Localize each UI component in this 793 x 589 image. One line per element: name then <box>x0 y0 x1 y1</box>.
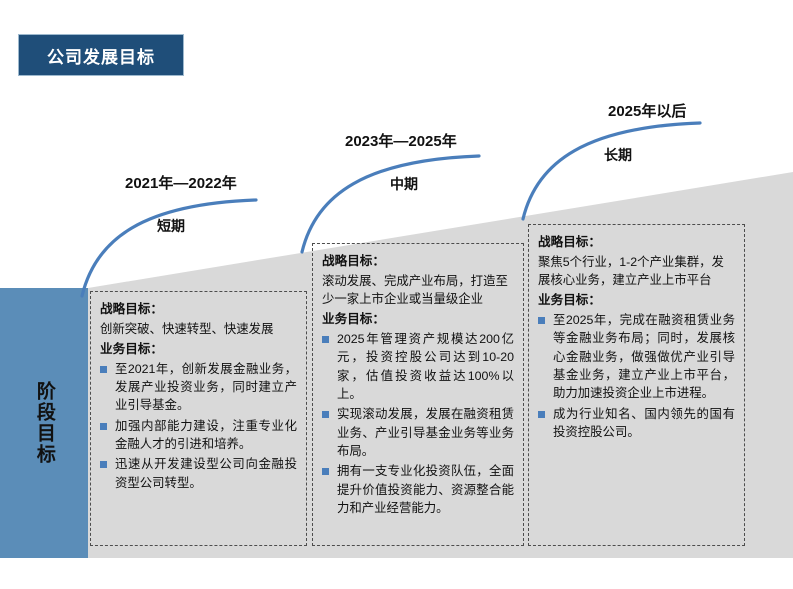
stage-2-term: 中期 <box>390 174 418 194</box>
list-item: 实现滚动发展，发展在融资租赁业务、产业引导基金业务等业务布局。 <box>322 405 514 460</box>
list-item-text: 实现滚动发展，发展在融资租赁业务、产业引导基金业务等业务布局。 <box>337 407 514 458</box>
list-item-text: 拥有一支专业化投资队伍，全面提升价值投资能力、资源整合能力和产业经营能力。 <box>337 464 514 515</box>
list-item-text: 加强内部能力建设，注重专业化金融人才的引进和培养。 <box>115 419 297 451</box>
stage-goal-sidebar: 阶段目标 <box>0 288 88 558</box>
list-item: 迅速从开发建设型公司向金融投资型公司转型。 <box>100 455 297 492</box>
stage-3-bullet-list: 至2025年，完成在融资租赁业务等金融业务布局；同时，发展核心金融业务，做强做优… <box>538 311 735 442</box>
stage-1-bullet-list: 至2021年，创新发展金融业务，发展产业投资业务，同时建立产业引导基金。 加强内… <box>100 360 297 493</box>
list-item-text: 迅速从开发建设型公司向金融投资型公司转型。 <box>115 457 297 489</box>
bullet-square-icon <box>538 317 545 324</box>
stage-1-year: 2021年—2022年 <box>125 172 237 193</box>
stage-3-year: 2025年以后 <box>608 100 686 121</box>
bullet-square-icon <box>322 411 329 418</box>
stage-3-strategy-text: 聚焦5个行业，1-2个产业集群，发展核心业务，建立产业上市平台 <box>538 253 735 290</box>
bullet-square-icon <box>100 461 107 468</box>
bullet-square-icon <box>322 468 329 475</box>
list-item: 加强内部能力建设，注重专业化金融人才的引进和培养。 <box>100 417 297 454</box>
stage-1-strategy-text: 创新突破、快速转型、快速发展 <box>100 320 297 338</box>
stage-2-business-heading: 业务目标： <box>322 310 514 329</box>
stage-3-term: 长期 <box>604 145 632 165</box>
stage-1-strategy-heading: 战略目标： <box>100 300 297 319</box>
stage-2-bullet-list: 2025年管理资产规模达200亿元，投资控股公司达到10-20家，估值投资收益达… <box>322 330 514 518</box>
stage-1-term: 短期 <box>157 216 185 236</box>
bullet-square-icon <box>322 336 329 343</box>
list-item-text: 2025年管理资产规模达200亿元，投资控股公司达到10-20家，估值投资收益达… <box>337 332 514 401</box>
list-item-text: 成为行业知名、国内领先的国有投资控股公司。 <box>553 407 735 439</box>
list-item: 成为行业知名、国内领先的国有投资控股公司。 <box>538 405 735 442</box>
stage-3-strategy-heading: 战略目标： <box>538 233 735 252</box>
list-item: 拥有一支专业化投资队伍，全面提升价值投资能力、资源整合能力和产业经营能力。 <box>322 462 514 517</box>
bullet-square-icon <box>538 411 545 418</box>
bullet-square-icon <box>100 366 107 373</box>
stage-2-year: 2023年—2025年 <box>345 130 457 151</box>
stage-1-business-heading: 业务目标： <box>100 340 297 359</box>
stage-1-panel: 战略目标： 创新突破、快速转型、快速发展 业务目标： 至2021年，创新发展金融… <box>90 291 307 546</box>
stage-goal-label: 阶段目标 <box>33 381 55 465</box>
list-item: 至2021年，创新发展金融业务，发展产业投资业务，同时建立产业引导基金。 <box>100 360 297 415</box>
list-item-text: 至2025年，完成在融资租赁业务等金融业务布局；同时，发展核心金融业务，做强做优… <box>553 313 735 400</box>
list-item: 至2025年，完成在融资租赁业务等金融业务布局；同时，发展核心金融业务，做强做优… <box>538 311 735 403</box>
stage-2-strategy-text: 滚动发展、完成产业布局，打造至少一家上市企业或当量级企业 <box>322 272 514 309</box>
list-item-text: 至2021年，创新发展金融业务，发展产业投资业务，同时建立产业引导基金。 <box>115 362 297 413</box>
slide-title-banner: 公司发展目标 <box>18 34 184 76</box>
stage-2-panel: 战略目标： 滚动发展、完成产业布局，打造至少一家上市企业或当量级企业 业务目标：… <box>312 243 524 546</box>
bullet-square-icon <box>100 423 107 430</box>
list-item: 2025年管理资产规模达200亿元，投资控股公司达到10-20家，估值投资收益达… <box>322 330 514 403</box>
page-title: 公司发展目标 <box>47 43 155 68</box>
slide-canvas: 公司发展目标 阶段目标 2021年—2022年 短期 2023年—2025年 中… <box>0 0 793 589</box>
stage-3-business-heading: 业务目标： <box>538 291 735 310</box>
stage-3-panel: 战略目标： 聚焦5个行业，1-2个产业集群，发展核心业务，建立产业上市平台 业务… <box>528 224 745 546</box>
stage-2-strategy-heading: 战略目标： <box>322 252 514 271</box>
